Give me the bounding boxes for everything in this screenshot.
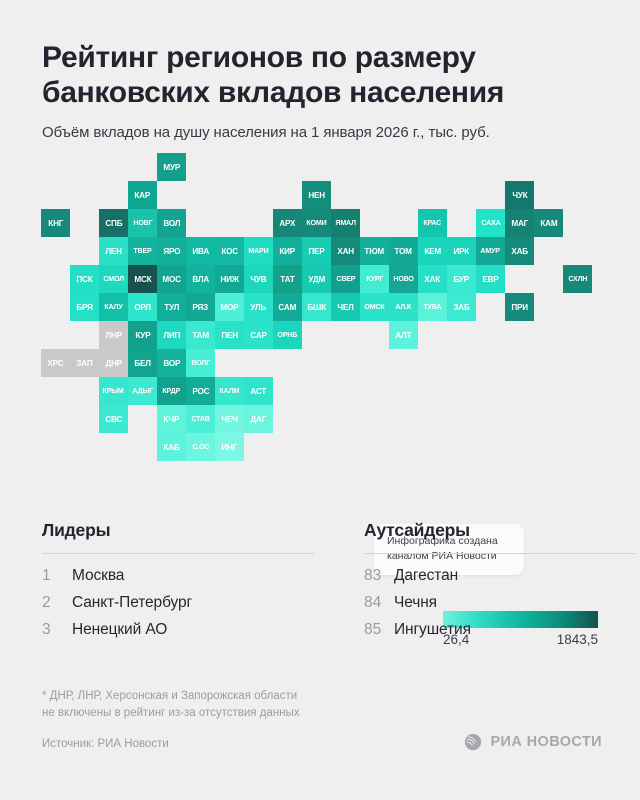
map-tile-label: КАЛМ: [220, 388, 240, 395]
ranking-lists: Лидеры 1Москва2Санкт-Петербург3Ненецкий …: [0, 520, 640, 648]
map-tile-label: ТУЛ: [164, 303, 179, 311]
map-tile[interactable]: БУР: [447, 265, 476, 293]
map-tile[interactable]: КОМИ: [302, 209, 331, 237]
map-tile-label: КНГ: [48, 219, 63, 227]
map-tile[interactable]: КАЛМ: [215, 377, 244, 405]
map-tile[interactable]: КИР: [273, 237, 302, 265]
map-tile[interactable]: УДМ: [302, 265, 331, 293]
map-tile[interactable]: КРЫМ: [99, 377, 128, 405]
map-tile-label: РОС: [192, 387, 209, 395]
map-tile-label: ПЕН: [221, 331, 238, 339]
map-tile[interactable]: МУР: [157, 153, 186, 181]
rank-region-name: Ненецкий АО: [72, 621, 167, 639]
rank-row: 1Москва: [42, 567, 320, 585]
map-tile[interactable]: ВОЛГ: [186, 349, 215, 377]
map-tile-label: ЧУК: [512, 191, 527, 199]
map-tile[interactable]: САМ: [273, 293, 302, 321]
map-tile[interactable]: ТУЛ: [157, 293, 186, 321]
map-tile[interactable]: НОВО: [389, 265, 418, 293]
map-tile-label: ЗАБ: [453, 303, 469, 311]
map-tile[interactable]: ЧУК: [505, 181, 534, 209]
map-tile[interactable]: САР: [244, 321, 273, 349]
map-tile-label: ОРЛ: [134, 303, 150, 311]
map-tile-label: СВС: [105, 415, 122, 423]
map-tile-label: МОС: [162, 275, 180, 283]
map-tile-label: КАМ: [540, 219, 557, 227]
map-tile[interactable]: ЕВР: [476, 265, 505, 293]
footnote: * ДНР, ЛНР, Херсонская и Запорожская обл…: [42, 688, 300, 723]
map-tile-label: ИНГ: [222, 443, 238, 451]
map-tile-label: СМОЛ: [103, 276, 124, 283]
map-tile-label: ТАМ: [192, 331, 209, 339]
map-tile-label: ДАГ: [251, 415, 267, 423]
outsiders-rows: 83Дагестан84Чечня85Ингушетия: [364, 567, 598, 639]
leaders-divider: [42, 553, 314, 554]
map-tile[interactable]: ПЕН: [215, 321, 244, 349]
map-tile-label: ЛЕН: [105, 247, 122, 255]
map-tile-label: АМУР: [481, 248, 500, 255]
map-tile[interactable]: ЛНР: [99, 321, 128, 349]
map-tile-label: МАГ: [511, 219, 528, 227]
rank-number: 85: [364, 621, 394, 639]
map-tile-label: ТАТ: [280, 275, 294, 283]
map-tile[interactable]: ТОМ: [389, 237, 418, 265]
map-tile-label: КРДР: [163, 388, 181, 395]
map-tile[interactable]: НОВГ: [128, 209, 157, 237]
map-tile[interactable]: НЕН: [302, 181, 331, 209]
map-tile-label: САР: [250, 331, 266, 339]
map-tile-label: КРАС: [424, 220, 442, 227]
map-tile[interactable]: ТУВА: [418, 293, 447, 321]
map-tile-label: НОВГ: [133, 220, 152, 227]
map-tile-label: ИВА: [192, 247, 209, 255]
map-tile-label: КЧР: [164, 415, 180, 423]
map-tile[interactable]: АСТ: [244, 377, 273, 405]
map-tile[interactable]: АДЫГ: [128, 377, 157, 405]
map-tile-label: ИРК: [454, 247, 470, 255]
map-tile-label: КАР: [135, 191, 151, 199]
leaders-column: Лидеры 1Москва2Санкт-Петербург3Ненецкий …: [42, 520, 320, 648]
map-tile[interactable]: ОМСК: [360, 293, 389, 321]
map-tile[interactable]: ИРК: [447, 237, 476, 265]
map-tile-label: КАБ: [163, 443, 179, 451]
map-tile[interactable]: ВОР: [157, 349, 186, 377]
map-tile[interactable]: СТАВ: [186, 405, 215, 433]
map-tile-label: НЕН: [308, 191, 325, 199]
map-tile-label: БШК: [307, 303, 325, 311]
map-tile[interactable]: ПСК: [70, 265, 99, 293]
map-tile-label: ЧЕЛ: [337, 303, 353, 311]
map-tile-label: КОМИ: [306, 220, 326, 227]
map-tile-label: ТЮМ: [365, 247, 385, 255]
map-tile-label: ЧУВ: [250, 275, 266, 283]
map-tile-label: ОРНБ: [278, 332, 298, 339]
map-tile-label: ЯМАЛ: [335, 220, 355, 227]
outsiders-divider: [364, 553, 636, 554]
map-tile-label: НИЖ: [220, 275, 239, 283]
rank-region-name: Дагестан: [394, 567, 458, 585]
map-tile-label: С.ОС: [192, 444, 209, 451]
ria-novosti-logo: РИА НОВОСТИ: [463, 732, 602, 752]
map-tile[interactable]: ОРЛ: [128, 293, 157, 321]
rank-row: 2Санкт-Петербург: [42, 594, 320, 612]
map-tile[interactable]: МАРИ: [244, 237, 273, 265]
map-tile[interactable]: РЯЗ: [186, 293, 215, 321]
map-tile[interactable]: ТЮМ: [360, 237, 389, 265]
tile-map-section: МУРКАРНЕНЧУККНГСПБНОВГВОЛАРХКОМИЯМАЛКРАС…: [0, 153, 640, 483]
header: Рейтинг регионов по размеру банковских в…: [0, 0, 640, 141]
map-tile-label: ЗАП: [76, 359, 92, 367]
map-tile[interactable]: ВЛА: [186, 265, 215, 293]
map-tile[interactable]: ДАГ: [244, 405, 273, 433]
map-tile-label: ВОР: [163, 359, 180, 367]
map-tile[interactable]: РОС: [186, 377, 215, 405]
map-tile[interactable]: СПБ: [99, 209, 128, 237]
rank-region-name: Москва: [72, 567, 124, 585]
region-tile-grid: МУРКАРНЕНЧУККНГСПБНОВГВОЛАРХКОМИЯМАЛКРАС…: [0, 153, 640, 483]
map-tile[interactable]: ЯРО: [157, 237, 186, 265]
map-tile[interactable]: ПЕР: [302, 237, 331, 265]
map-tile[interactable]: КОС: [215, 237, 244, 265]
map-tile[interactable]: ХАН: [331, 237, 360, 265]
map-tile[interactable]: САХА: [476, 209, 505, 237]
map-tile-label: САМ: [279, 303, 297, 311]
map-tile[interactable]: ЧУВ: [244, 265, 273, 293]
map-tile-label: ДНР: [105, 359, 122, 367]
map-tile[interactable]: МСК: [128, 265, 157, 293]
map-tile[interactable]: ХРС: [41, 349, 70, 377]
map-tile-label: ПЕР: [308, 247, 324, 255]
rank-row: 84Чечня: [364, 594, 598, 612]
map-tile[interactable]: СМОЛ: [99, 265, 128, 293]
ria-logo-text: РИА НОВОСТИ: [490, 734, 602, 750]
map-tile-label: СТАВ: [191, 416, 209, 423]
map-tile-label: АДЫГ: [132, 388, 153, 395]
map-tile[interactable]: ИНГ: [215, 433, 244, 461]
map-tile[interactable]: ЯМАЛ: [331, 209, 360, 237]
map-tile-label: ВЛА: [192, 275, 209, 283]
map-tile-label: АРХ: [280, 219, 296, 227]
map-tile-label: УДМ: [308, 275, 325, 283]
rank-number: 2: [42, 594, 72, 612]
map-tile-label: АЛ.К: [396, 304, 412, 311]
map-tile[interactable]: УЛЬ: [244, 293, 273, 321]
map-tile-label: КИР: [280, 247, 296, 255]
map-tile-label: СВЕР: [336, 276, 355, 283]
map-tile[interactable]: АЛТ: [389, 321, 418, 349]
map-tile-label: НОВО: [393, 276, 413, 283]
map-tile[interactable]: ЧЕЛ: [331, 293, 360, 321]
map-tile-label: МОР: [220, 303, 238, 311]
map-tile-label: ТУВА: [424, 304, 442, 311]
map-tile[interactable]: ЛИП: [157, 321, 186, 349]
map-tile-label: ЯРО: [163, 247, 180, 255]
ria-logo-icon: [463, 732, 483, 752]
map-tile-label: ПСК: [76, 275, 92, 283]
rank-row: 3Ненецкий АО: [42, 621, 320, 639]
map-tile-label: АСТ: [251, 387, 267, 395]
map-tile-label: БУР: [454, 275, 470, 283]
map-tile[interactable]: БЕЛ: [128, 349, 157, 377]
map-tile-label: КУР: [135, 331, 150, 339]
map-tile[interactable]: КЕМ: [418, 237, 447, 265]
rank-number: 3: [42, 621, 72, 639]
map-tile[interactable]: СВС: [99, 405, 128, 433]
map-tile[interactable]: ТАМ: [186, 321, 215, 349]
map-tile[interactable]: КУРГ: [360, 265, 389, 293]
map-tile[interactable]: НИЖ: [215, 265, 244, 293]
rank-number: 1: [42, 567, 72, 585]
map-tile[interactable]: КАБ: [157, 433, 186, 461]
map-tile-label: БЕЛ: [134, 359, 150, 367]
map-tile-label: ЛИП: [163, 331, 180, 339]
map-tile-label: ТОМ: [395, 247, 412, 255]
map-tile-label: КАЛУ: [104, 304, 122, 311]
map-tile[interactable]: ОРНБ: [273, 321, 302, 349]
map-tile[interactable]: МОС: [157, 265, 186, 293]
map-tile[interactable]: БРЯ: [70, 293, 99, 321]
map-tile[interactable]: СВЕР: [331, 265, 360, 293]
map-tile-label: ХРС: [47, 359, 63, 367]
map-tile[interactable]: КАР: [128, 181, 157, 209]
map-tile[interactable]: АЛ.К: [389, 293, 418, 321]
map-tile[interactable]: ЗАБ: [447, 293, 476, 321]
map-tile[interactable]: АМУР: [476, 237, 505, 265]
page-title: Рейтинг регионов по размеру банковских в…: [42, 40, 600, 110]
map-tile-label: КРЫМ: [103, 388, 124, 395]
map-tile-label: МАРИ: [248, 248, 268, 255]
map-tile[interactable]: КНГ: [41, 209, 70, 237]
map-tile-label: ХАБ: [511, 247, 528, 255]
map-tile[interactable]: ЧЕЧ: [215, 405, 244, 433]
map-tile-label: МСК: [134, 275, 151, 283]
map-tile[interactable]: ХАК: [418, 265, 447, 293]
map-tile[interactable]: ЛЕН: [99, 237, 128, 265]
map-tile-label: КОС: [221, 247, 238, 255]
map-tile-label: АЛТ: [395, 331, 411, 339]
map-tile-label: ЧЕЧ: [221, 415, 237, 423]
leaders-title: Лидеры: [42, 520, 320, 541]
rank-region-name: Чечня: [394, 594, 437, 612]
map-tile-label: УЛЬ: [251, 303, 267, 311]
map-tile-label: РЯЗ: [193, 303, 209, 311]
map-tile[interactable]: ХАБ: [505, 237, 534, 265]
map-tile[interactable]: КАЛУ: [99, 293, 128, 321]
outsiders-title: Аутсайдеры: [364, 520, 598, 541]
map-tile-label: МУР: [163, 163, 180, 171]
map-tile[interactable]: ИВА: [186, 237, 215, 265]
map-tile[interactable]: БШК: [302, 293, 331, 321]
map-tile-label: ЛНР: [105, 331, 122, 339]
map-tile-label: САХА: [481, 220, 500, 227]
map-tile-label: БРЯ: [76, 303, 92, 311]
map-tile-label: КУРГ: [366, 276, 383, 283]
map-tile[interactable]: КУР: [128, 321, 157, 349]
leaders-rows: 1Москва2Санкт-Петербург3Ненецкий АО: [42, 567, 320, 639]
map-tile[interactable]: КЧР: [157, 405, 186, 433]
map-tile[interactable]: ЗАП: [70, 349, 99, 377]
outsiders-column: Аутсайдеры 83Дагестан84Чечня85Ингушетия: [320, 520, 598, 648]
rank-number: 84: [364, 594, 394, 612]
rank-region-name: Санкт-Петербург: [72, 594, 192, 612]
map-tile[interactable]: С.ОС: [186, 433, 215, 461]
map-tile-label: СПБ: [105, 219, 122, 227]
map-tile[interactable]: МОР: [215, 293, 244, 321]
map-tile[interactable]: СХЛН: [563, 265, 592, 293]
map-tile-label: ХАН: [337, 247, 354, 255]
rank-region-name: Ингушетия: [394, 621, 471, 639]
map-tile-label: ВОЛ: [163, 219, 180, 227]
map-tile[interactable]: МАГ: [505, 209, 534, 237]
map-tile[interactable]: КАМ: [534, 209, 563, 237]
map-tile-label: ХАК: [425, 275, 441, 283]
map-tile-label: КЕМ: [424, 247, 441, 255]
map-tile[interactable]: КРДР: [157, 377, 186, 405]
map-tile-label: ПРИ: [511, 303, 528, 311]
source-label: Источник: РИА Новости: [42, 738, 169, 750]
map-tile[interactable]: КРАС: [418, 209, 447, 237]
map-tile[interactable]: ДНР: [99, 349, 128, 377]
map-tile[interactable]: ВОЛ: [157, 209, 186, 237]
map-tile[interactable]: ПРИ: [505, 293, 534, 321]
map-tile-label: ВОЛГ: [191, 360, 210, 367]
map-tile-label: ТВЕР: [133, 248, 151, 255]
page-subtitle: Объём вкладов на душу населения на 1 янв…: [42, 124, 600, 141]
map-tile[interactable]: АРХ: [273, 209, 302, 237]
rank-row: 83Дагестан: [364, 567, 598, 585]
map-tile[interactable]: ТАТ: [273, 265, 302, 293]
map-tile-label: ЕВР: [482, 275, 498, 283]
map-tile-label: СХЛН: [568, 276, 587, 283]
rank-number: 83: [364, 567, 394, 585]
rank-row: 85Ингушетия: [364, 621, 598, 639]
map-tile[interactable]: ТВЕР: [128, 237, 157, 265]
map-tile-label: ОМСК: [364, 304, 384, 311]
